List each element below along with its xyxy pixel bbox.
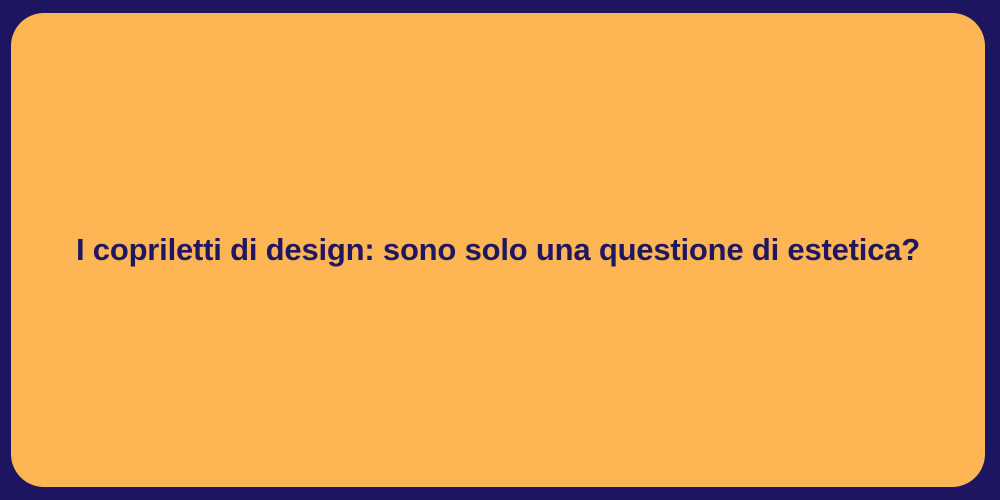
page-frame: I copriletti di design: sono solo una qu… xyxy=(0,0,1000,500)
article-card: I copriletti di design: sono solo una qu… xyxy=(11,13,985,487)
page-title: I copriletti di design: sono solo una qu… xyxy=(11,230,985,270)
